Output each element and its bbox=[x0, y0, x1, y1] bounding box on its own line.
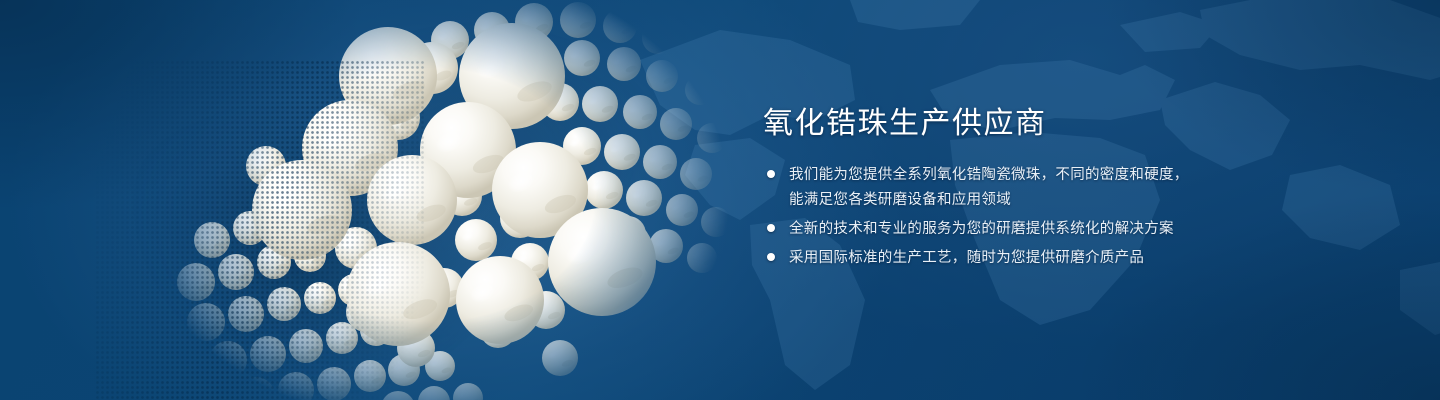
list-item: 采用国际标准的生产工艺，随时为您提供研磨介质产品 bbox=[763, 246, 1383, 271]
bullet-text: 全新的技术和专业的服务为您的研磨提供系统化的解决方案 bbox=[789, 217, 1174, 242]
banner-title: 氧化锆珠生产供应商 bbox=[763, 104, 1383, 144]
bullet-text: 采用国际标准的生产工艺，随时为您提供研磨介质产品 bbox=[789, 246, 1144, 271]
list-item: 我们能为您提供全系列氧化锆陶瓷微珠，不同的密度和硬度， 能满足您各类研磨设备和应… bbox=[763, 163, 1383, 213]
list-item: 全新的技术和专业的服务为您的研磨提供系统化的解决方案 bbox=[763, 217, 1383, 242]
bullet-text: 我们能为您提供全系列氧化锆陶瓷微珠，不同的密度和硬度， 能满足您各类研磨设备和应… bbox=[789, 163, 1189, 213]
bullet-dot-icon bbox=[767, 253, 775, 261]
banner-bullet-list: 我们能为您提供全系列氧化锆陶瓷微珠，不同的密度和硬度， 能满足您各类研磨设备和应… bbox=[763, 163, 1383, 271]
banner-text-block: 氧化锆珠生产供应商 我们能为您提供全系列氧化锆陶瓷微珠，不同的密度和硬度， 能满… bbox=[763, 104, 1383, 275]
hero-banner: 氧化锆珠生产供应商 我们能为您提供全系列氧化锆陶瓷微珠，不同的密度和硬度， 能满… bbox=[0, 0, 1440, 400]
zirconia-beads-photo bbox=[0, 0, 760, 400]
bullet-dot-icon bbox=[767, 224, 775, 232]
bullet-dot-icon bbox=[767, 170, 775, 178]
